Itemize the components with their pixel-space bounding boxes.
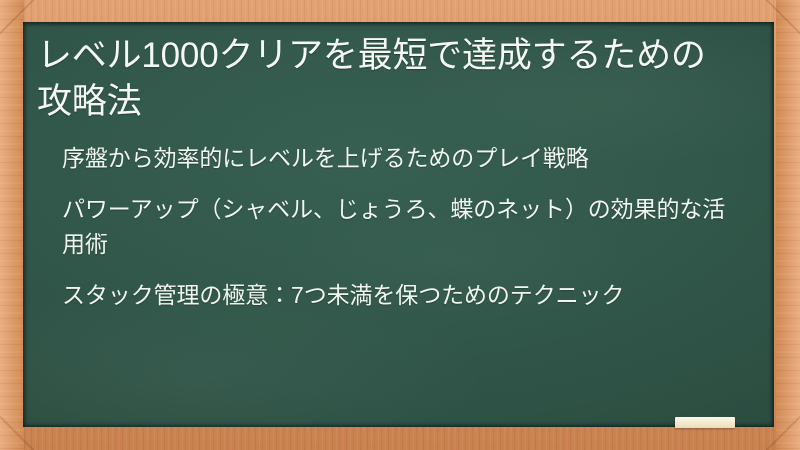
bullet-item: スタック管理の極意：7つ未満を保つためのテクニック [62,278,728,313]
frame-right-stile [776,0,800,450]
slide-content: レベル1000クリアを最短で達成するための攻略法 序盤から効率的にレベルを上げる… [23,22,774,427]
slide-title: レベル1000クリアを最短で達成するための攻略法 [37,33,728,124]
bullet-list: 序盤から効率的にレベルを上げるためのプレイ戦略 パワーアップ（シャベル、じょうろ… [37,141,728,313]
bullet-item: パワーアップ（シャベル、じょうろ、蝶のネット）の効果的な活用術 [62,192,728,262]
chalk-stick-icon [675,417,735,428]
frame-left-stile [0,0,24,450]
chalkboard-surface: レベル1000クリアを最短で達成するための攻略法 序盤から効率的にレベルを上げる… [23,22,774,427]
chalkboard-slide: レベル1000クリアを最短で達成するための攻略法 序盤から効率的にレベルを上げる… [0,0,800,450]
bullet-item: 序盤から効率的にレベルを上げるためのプレイ戦略 [62,141,728,176]
